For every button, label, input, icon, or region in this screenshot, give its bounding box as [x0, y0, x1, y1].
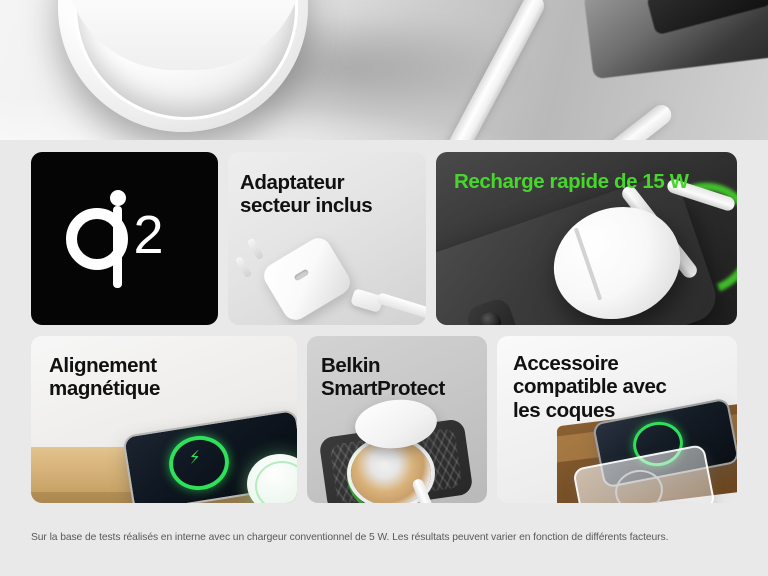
qi2-logo-icon: 2: [66, 202, 184, 276]
power-adapter-card[interactable]: Adaptateur secteur inclus: [228, 152, 426, 325]
case-compatible-title-line3: les coques: [513, 399, 615, 422]
power-adapter-title-line2: secteur inclus: [240, 194, 372, 217]
usb-c-cable: [376, 292, 426, 319]
fast-charge-title: Recharge rapide de 15 W: [454, 170, 689, 193]
smartprotect-title: Belkin SmartProtect: [321, 354, 445, 401]
power-adapter-title-line1: Adaptateur: [240, 171, 344, 194]
hero-banner-image: [0, 0, 768, 140]
power-adapter-title: Adaptateur secteur inclus: [240, 171, 372, 218]
case-compatible-card[interactable]: Accessoire compatible avec les coques: [497, 336, 737, 503]
feature-grid: 2 Adaptateur secteur inclus Recharge rap…: [31, 152, 737, 503]
qi2-dot: [110, 190, 126, 206]
magnetic-alignment-title: Alignement magnétique: [49, 354, 160, 401]
power-adapter-body: [259, 233, 354, 324]
magnetic-alignment-card[interactable]: Alignement magnétique ⚡: [31, 336, 297, 503]
qi2-certification-card[interactable]: 2: [31, 152, 218, 325]
qi2-digit: 2: [134, 208, 164, 262]
laptop-screen-edge: [646, 0, 768, 35]
plug-pin-right: [235, 256, 252, 278]
plug-pin-left: [247, 238, 264, 260]
feature-row-bottom: Alignement magnétique ⚡ Belkin SmartProt…: [31, 336, 737, 503]
smartprotect-title-line1: Belkin: [321, 354, 380, 377]
legal-footnote: Sur la base de tests réalisés en interne…: [31, 531, 737, 544]
feature-row-top: 2 Adaptateur secteur inclus Recharge rap…: [31, 152, 737, 325]
case-compatible-title-line2: compatible avec: [513, 375, 667, 398]
magnetic-alignment-title-line2: magnétique: [49, 377, 160, 400]
product-feature-page: 2 Adaptateur secteur inclus Recharge rap…: [0, 0, 768, 576]
case-compatible-title-line1: Accessoire: [513, 352, 618, 375]
smartprotect-title-line2: SmartProtect: [321, 377, 445, 400]
qi2-q-stem: [113, 206, 122, 288]
belkin-smartprotect-card[interactable]: Belkin SmartProtect: [307, 336, 487, 503]
case-compatible-title: Accessoire compatible avec les coques: [513, 352, 667, 422]
magnetic-alignment-title-line1: Alignement: [49, 354, 157, 377]
fast-charge-card[interactable]: Recharge rapide de 15 W: [436, 152, 737, 325]
